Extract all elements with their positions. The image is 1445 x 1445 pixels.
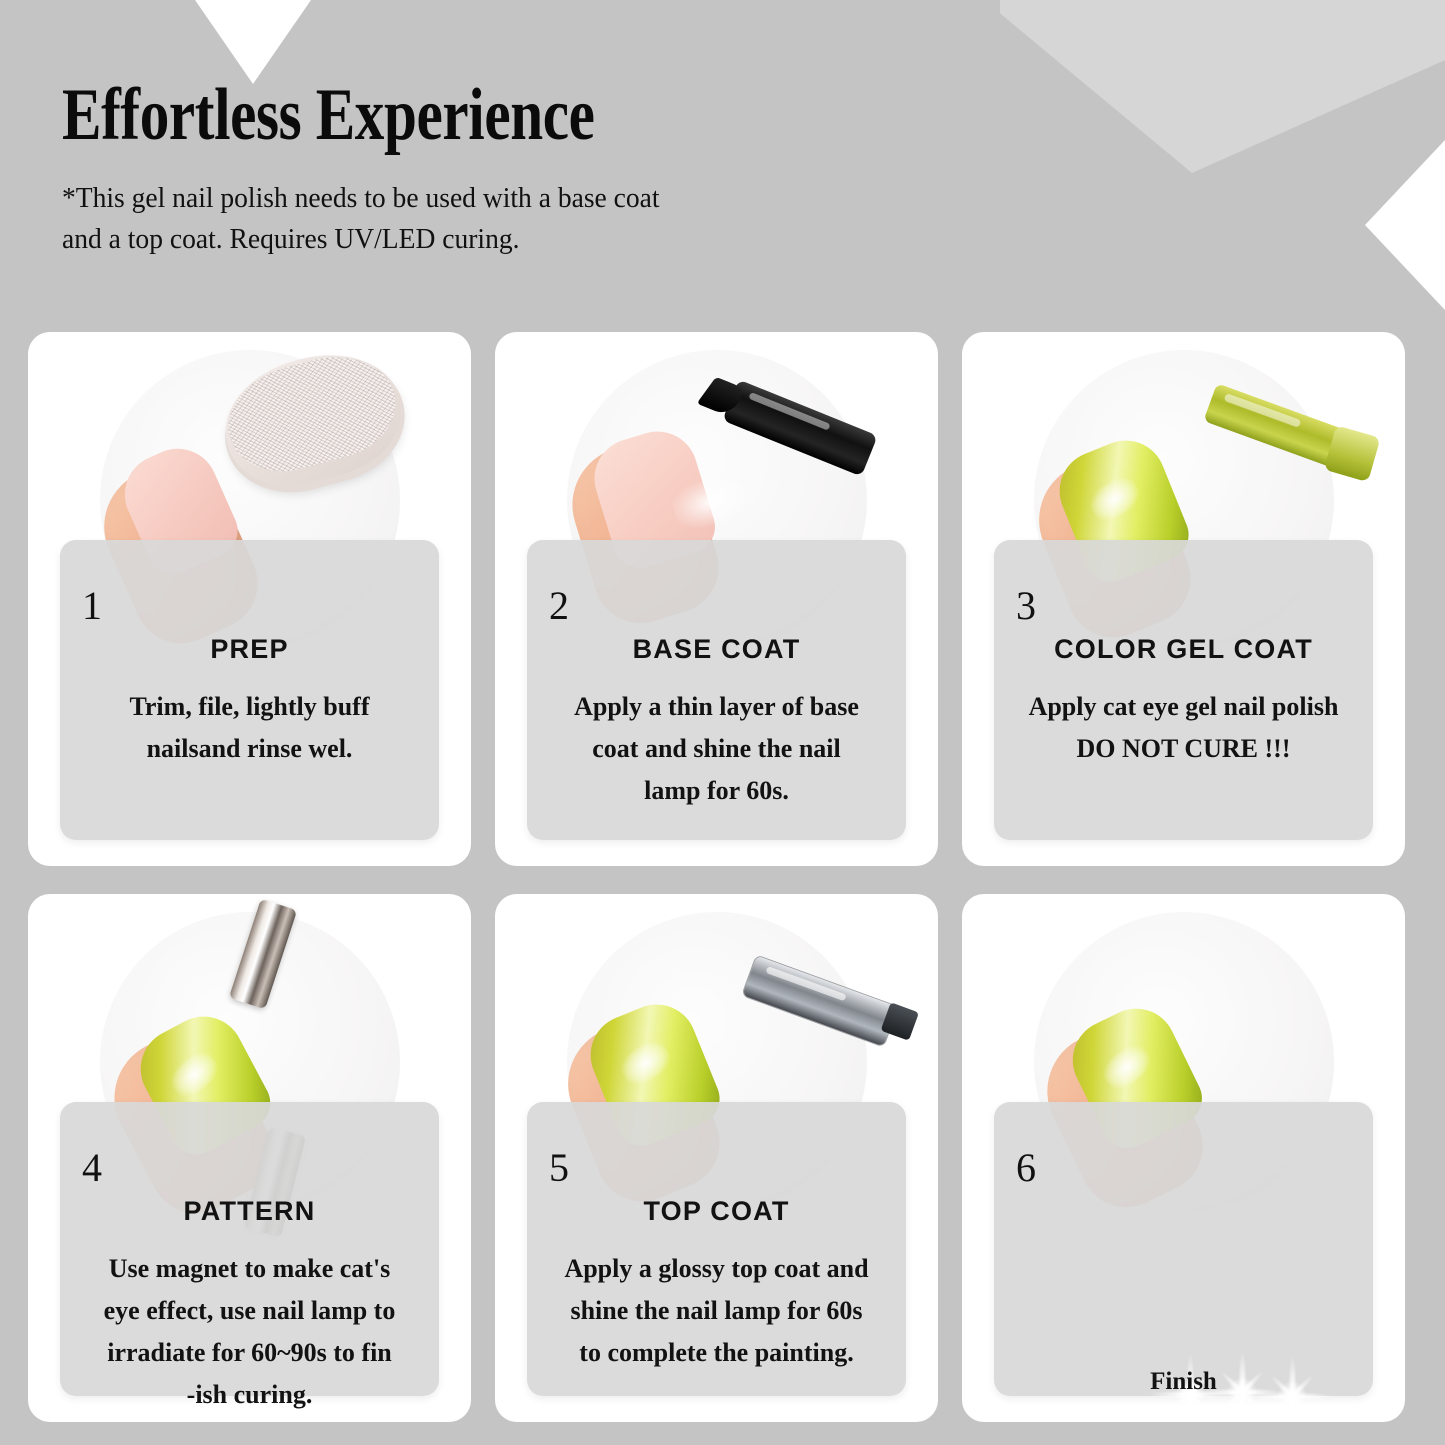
- step-body: Apply a thin layer of base coat and shin…: [557, 686, 876, 812]
- step-card-prep[interactable]: 1 PREP Trim, file, lightly buff nailsand…: [28, 332, 471, 866]
- step-heading: TOP COAT: [527, 1196, 906, 1227]
- step-body: Use magnet to make cat's eye effect, use…: [90, 1248, 409, 1416]
- step-text-panel: 2 BASE COAT Apply a thin layer of base c…: [527, 540, 906, 840]
- step-number: 1: [82, 586, 102, 626]
- page-subtitle: *This gel nail polish needs to be used w…: [62, 178, 1060, 260]
- step-heading: PATTERN: [60, 1196, 439, 1227]
- step-heading: COLOR GEL COAT: [994, 634, 1373, 665]
- step-body: Apply cat eye gel nail polish DO NOT CUR…: [1024, 686, 1343, 770]
- step-text-panel: 1 PREP Trim, file, lightly buff nailsand…: [60, 540, 439, 840]
- step-card-top-coat[interactable]: 5 TOP COAT Apply a glossy top coat and s…: [495, 894, 938, 1422]
- step-text-panel: 6 Finish: [994, 1102, 1373, 1396]
- step-number: 5: [549, 1148, 569, 1188]
- step-card-pattern[interactable]: 4 PATTERN Use magnet to make cat's eye e…: [28, 894, 471, 1422]
- step-text-panel: 3 COLOR GEL COAT Apply cat eye gel nail …: [994, 540, 1373, 840]
- page-title: Effortless Experience: [62, 78, 902, 152]
- step-heading: PREP: [60, 634, 439, 665]
- header: Effortless Experience *This gel nail pol…: [62, 78, 1112, 260]
- step-number: 3: [1016, 586, 1036, 626]
- step-body: Finish: [1024, 1362, 1343, 1403]
- step-heading: BASE COAT: [527, 634, 906, 665]
- steps-grid: 1 PREP Trim, file, lightly buff nailsand…: [28, 332, 1417, 1422]
- step-card-color-gel-coat[interactable]: 3 COLOR GEL COAT Apply cat eye gel nail …: [962, 332, 1405, 866]
- right-edge-notch-decoration: [1365, 140, 1445, 310]
- step-body: Apply a glossy top coat and shine the na…: [557, 1248, 876, 1374]
- step-card-finish[interactable]: 6 Finish: [962, 894, 1405, 1422]
- step-number: 4: [82, 1148, 102, 1188]
- step-text-panel: 5 TOP COAT Apply a glossy top coat and s…: [527, 1102, 906, 1396]
- step-text-panel: 4 PATTERN Use magnet to make cat's eye e…: [60, 1102, 439, 1396]
- step-number: 6: [1016, 1148, 1036, 1188]
- step-card-base-coat[interactable]: 2 BASE COAT Apply a thin layer of base c…: [495, 332, 938, 866]
- top-left-triangle-decoration: [195, 0, 311, 84]
- step-body: Trim, file, lightly buff nailsand rinse …: [90, 686, 409, 770]
- step-number: 2: [549, 586, 569, 626]
